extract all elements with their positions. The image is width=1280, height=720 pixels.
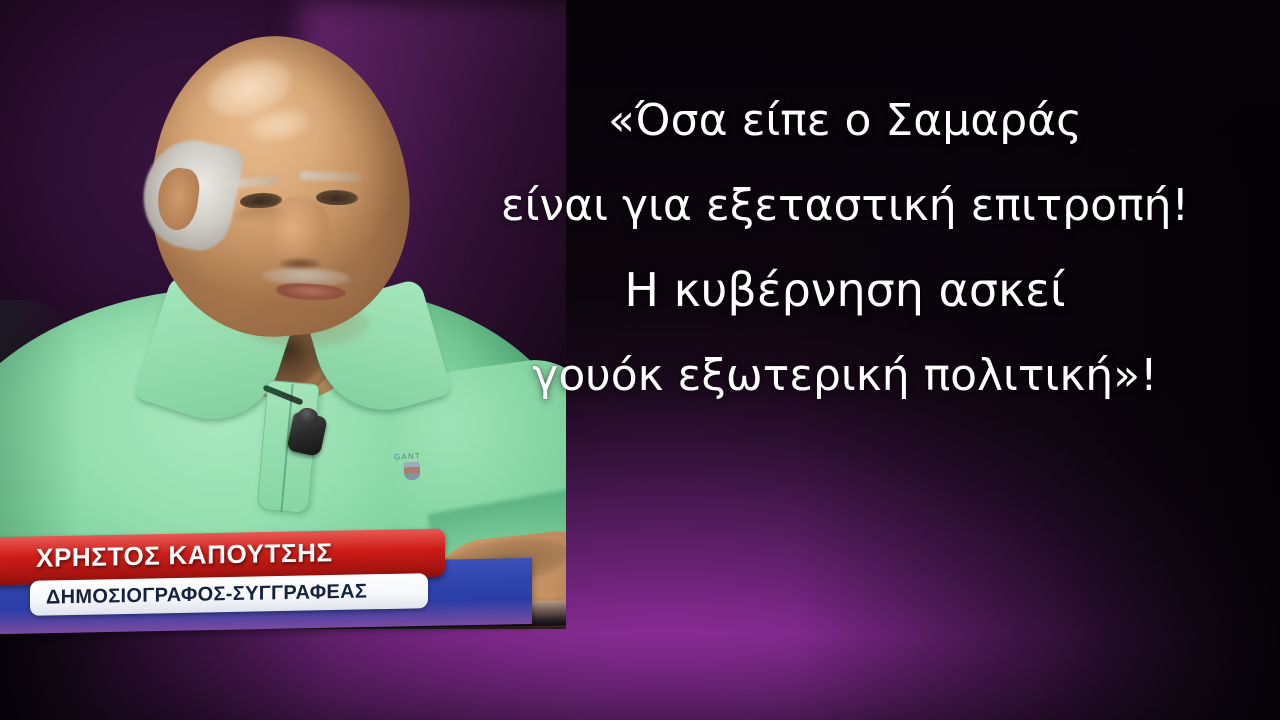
quote-line-4: γουόκ εξωτερική πολιτική»! <box>430 333 1260 418</box>
quote-line-2: είναι για εξεταστική επιτροπή! <box>430 163 1260 248</box>
quote-line-1: «Όσα είπε ο Σαμαράς <box>430 78 1260 163</box>
shirt-brand-shield-icon <box>404 462 421 481</box>
shirt-brand-logo: GANT <box>394 451 421 461</box>
lower-third-banner: ΧΡΗΣΤΟΣ ΚΑΠΟΥΤΣΗΣ ΔΗΜΟΣΙΟΓΡΑΦΟΣ-ΣΥΓΓΡΑΦΕ… <box>0 533 540 629</box>
chin-shadow <box>240 300 370 348</box>
quote-card-stage: GANT ΧΡΗΣΤΟΣ ΚΑΠΟΥΤΣΗΣ ΔΗΜΟΣΙΟΓΡΑΦΟΣ-ΣΥΓ… <box>0 0 1280 720</box>
quote-line-3: Η κυβέρνηση ασκεί <box>430 248 1260 333</box>
eye-right <box>316 190 358 206</box>
quote-overlay: «Όσα είπε ο Σαμαράς είναι για εξεταστική… <box>430 78 1260 418</box>
